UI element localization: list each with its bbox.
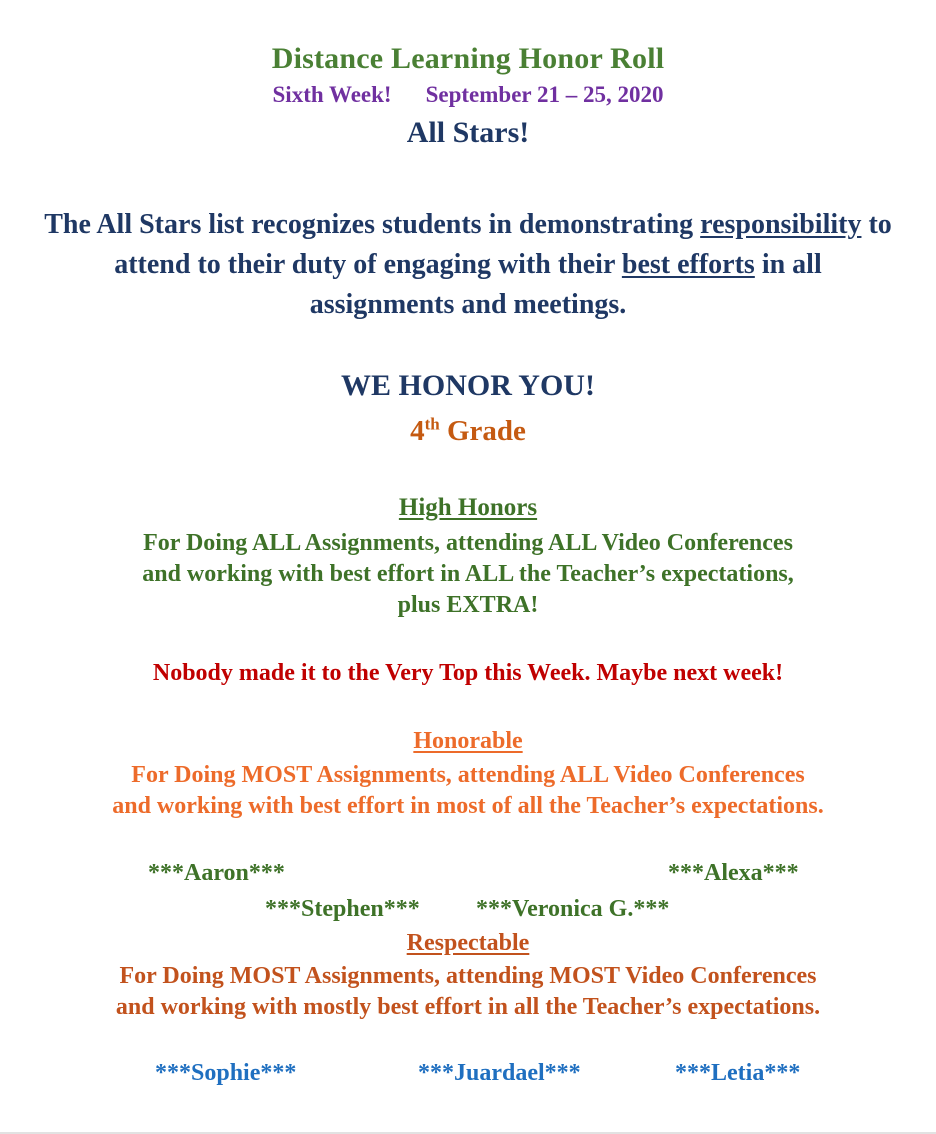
date-range: September 21 – 25, 2020 [426, 82, 664, 107]
high-honors-criteria-line-1: For Doing ALL Assignments, attending ALL… [30, 528, 906, 559]
student-name: ***Letia*** [675, 1060, 800, 1087]
honorable-heading-text: Honorable [413, 728, 522, 754]
high-honors-empty-message: Nobody made it to the Very Top this Week… [0, 661, 936, 685]
intro-emphasis-best-efforts: best efforts [622, 249, 755, 280]
week-and-date-row: Sixth Week!September 21 – 25, 2020 [0, 83, 936, 106]
honorable-criteria-line-1: For Doing MOST Assignments, attending AL… [20, 760, 916, 791]
honor-you-heading: WE HONOR YOU! [0, 371, 936, 401]
student-name: ***Alexa*** [668, 860, 799, 887]
high-honors-heading: High Honors [0, 495, 936, 520]
student-name: ***Juardael*** [418, 1060, 581, 1087]
honor-roll-document: Distance Learning Honor Roll Sixth Week!… [0, 0, 936, 1134]
grade-number: 4 [410, 415, 425, 447]
grade-ordinal-suffix: th [425, 414, 440, 433]
student-name: ***Veronica G.*** [476, 896, 669, 923]
intro-emphasis-responsibility: responsibility [700, 209, 861, 240]
document-subtitle: All Stars! [0, 118, 936, 148]
document-title: Distance Learning Honor Roll [0, 44, 936, 74]
respectable-criteria: For Doing MOST Assignments, attending MO… [18, 961, 918, 1023]
respectable-heading-text: Respectable [407, 930, 530, 956]
respectable-criteria-line-1: For Doing MOST Assignments, attending MO… [18, 961, 918, 992]
high-honors-criteria-line-2: and working with best effort in ALL the … [30, 559, 906, 590]
honorable-heading: Honorable [0, 729, 936, 753]
student-name: ***Sophie*** [155, 1060, 296, 1087]
respectable-criteria-line-2: and working with mostly best effort in a… [18, 992, 918, 1023]
high-honors-criteria: For Doing ALL Assignments, attending ALL… [30, 528, 906, 621]
respectable-heading: Respectable [0, 931, 936, 955]
high-honors-heading-text: High Honors [399, 494, 537, 521]
intro-text-part-1: The All Stars list recognizes students i… [44, 209, 700, 240]
high-honors-criteria-line-3: plus EXTRA! [30, 590, 906, 621]
honorable-criteria: For Doing MOST Assignments, attending AL… [20, 760, 916, 822]
intro-paragraph: The All Stars list recognizes students i… [40, 205, 896, 324]
honorable-criteria-line-2: and working with best effort in most of … [20, 791, 916, 822]
student-name: ***Aaron*** [148, 860, 285, 887]
grade-word: Grade [447, 415, 526, 447]
student-name: ***Stephen*** [265, 896, 420, 923]
week-label: Sixth Week! [273, 82, 392, 107]
grade-level: 4th Grade [0, 417, 936, 446]
